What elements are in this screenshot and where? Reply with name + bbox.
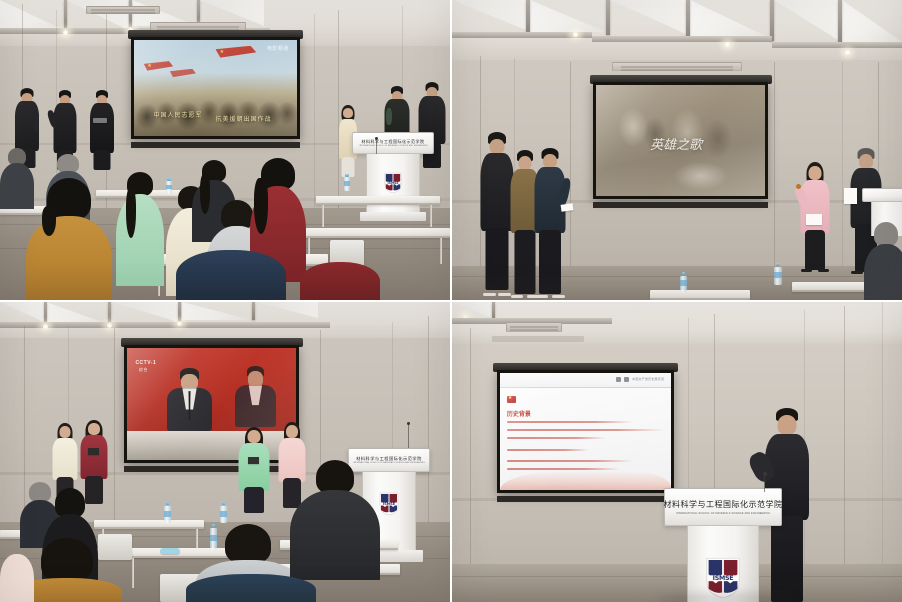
ismse-shield-logo: ISMSE [379, 492, 399, 516]
desk-item [160, 548, 180, 554]
projection-screen: CCTV-1 综合 [124, 345, 299, 463]
standing-presenter [800, 162, 830, 272]
audience-member [186, 574, 316, 602]
downlight-icon [62, 30, 69, 35]
news-anchor [232, 366, 279, 435]
audience-member [300, 262, 380, 300]
audience-member [116, 172, 164, 284]
downlight-icon [572, 32, 579, 37]
collage-divider-horizontal [0, 300, 902, 302]
news-anchor [164, 368, 215, 440]
screen-subtitle-secondary: 抗美援朝出国作战 [216, 114, 272, 123]
svg-text:ISMSE: ISMSE [388, 181, 399, 185]
scene-bottom-right: 中国共产党历史展览馆 历史背景 [452, 302, 902, 602]
water-bottle [774, 263, 782, 285]
water-bottle [220, 502, 227, 523]
ceiling-vent [612, 62, 742, 71]
screen-subtitle-main: 中国人民志愿军 [154, 110, 203, 119]
lectern: 材料科学与工程国际化示范学院 INTERNATIONAL SCHOOL OF M… [352, 132, 434, 222]
standing-presenter [238, 427, 270, 511]
scene-top-left: ★ ★ 电影频道 中国人民志愿军 抗美援朝出国作战 [0, 0, 450, 300]
scene-top-right: 英雄之歌 [452, 0, 902, 300]
news-sub-bug: 综合 [139, 367, 148, 373]
lectern-name-en: INTERNATIONAL SCHOOL OF MATERIALS SCIENC… [676, 512, 770, 515]
screen-content: CCTV-1 综合 [127, 348, 296, 460]
downlight-icon [176, 321, 183, 326]
audience-member [176, 250, 286, 300]
audience-member [0, 554, 34, 602]
screen-content: 英雄之歌 [596, 85, 765, 196]
screen-content: ★ ★ 电影频道 中国人民志愿军 抗美援朝出国作战 [134, 40, 297, 136]
news-channel-bug: CCTV-1 [135, 360, 156, 366]
downlight-icon [844, 50, 851, 55]
water-bottle [344, 174, 350, 191]
lectern-nameplate: 材料科学与工程国际化示范学院 INTERNATIONAL SCHOOL OF M… [352, 132, 434, 154]
slide-emblem-icon [507, 396, 516, 403]
slide-heading: 历史背景 [507, 409, 531, 418]
collage-panel-bottom-left: CCTV-1 综合 [0, 302, 450, 602]
lectern-name-cn: 材料科学与工程国际化示范学院 [664, 499, 783, 510]
desk [316, 196, 440, 205]
audience-member [290, 460, 380, 576]
standing-presenter [89, 90, 115, 168]
desk [300, 228, 450, 238]
script-paper [806, 214, 822, 225]
standing-presenter [534, 148, 566, 298]
scene-bottom-left: CCTV-1 综合 [0, 302, 450, 602]
collage-panel-top-left: ★ ★ 电影频道 中国人民志愿军 抗美援朝出国作战 [0, 0, 450, 300]
skylight-panel [0, 0, 64, 30]
water-bottle [164, 502, 171, 523]
downlight-icon [106, 323, 113, 328]
channel-bug-label: 电影频道 [267, 45, 289, 52]
ceiling-vent [86, 6, 160, 14]
ceiling-vent [492, 336, 584, 342]
lectern: 材料科学与工程国际化示范学院 INTERNATIONAL SCHOOL OF M… [664, 488, 782, 602]
microphone-icon [796, 184, 801, 189]
projection-screen: 英雄之歌 [593, 82, 768, 199]
screen-calligraphy: 英雄之歌 [650, 134, 702, 153]
lectern-name-en: INTERNATIONAL SCHOOL OF MATERIALS SCIENC… [359, 145, 428, 147]
slide-brand: 中国共产党历史展览馆 [616, 377, 664, 382]
photo-collage: ★ ★ 电影频道 中国人民志愿军 抗美援朝出国作战 [0, 0, 902, 602]
projection-screen: 中国共产党历史展览馆 历史背景 [497, 370, 674, 493]
screen-content: 中国共产党历史展览馆 历史背景 [500, 373, 671, 490]
script-paper [844, 188, 857, 204]
collage-panel-top-right: 英雄之歌 [452, 0, 902, 300]
skylight-panel [66, 0, 128, 30]
lectern-nameplate: 材料科学与工程国际化示范学院 INTERNATIONAL SCHOOL OF M… [664, 488, 782, 526]
audience-member [864, 222, 902, 300]
ceiling-vent [506, 322, 562, 332]
downlight-icon [42, 324, 49, 329]
svg-text:ISMSE: ISMSE [713, 575, 734, 582]
phone-icon [88, 448, 99, 455]
downlight-icon [724, 42, 731, 47]
desk [650, 290, 750, 300]
collage-panel-bottom-right: 中国共产党历史展览馆 历史背景 [452, 302, 902, 602]
water-bottle [680, 272, 687, 292]
desk [94, 520, 204, 529]
ceiling [452, 0, 902, 60]
svg-text:ISMSE: ISMSE [383, 502, 396, 506]
phone-icon [248, 457, 259, 464]
ismse-shield-logo: ISMSE [384, 172, 402, 194]
projection-screen: ★ ★ 电影频道 中国人民志愿军 抗美援朝出国作战 [131, 37, 300, 139]
audience-member [26, 178, 112, 300]
standing-presenter [480, 132, 514, 296]
